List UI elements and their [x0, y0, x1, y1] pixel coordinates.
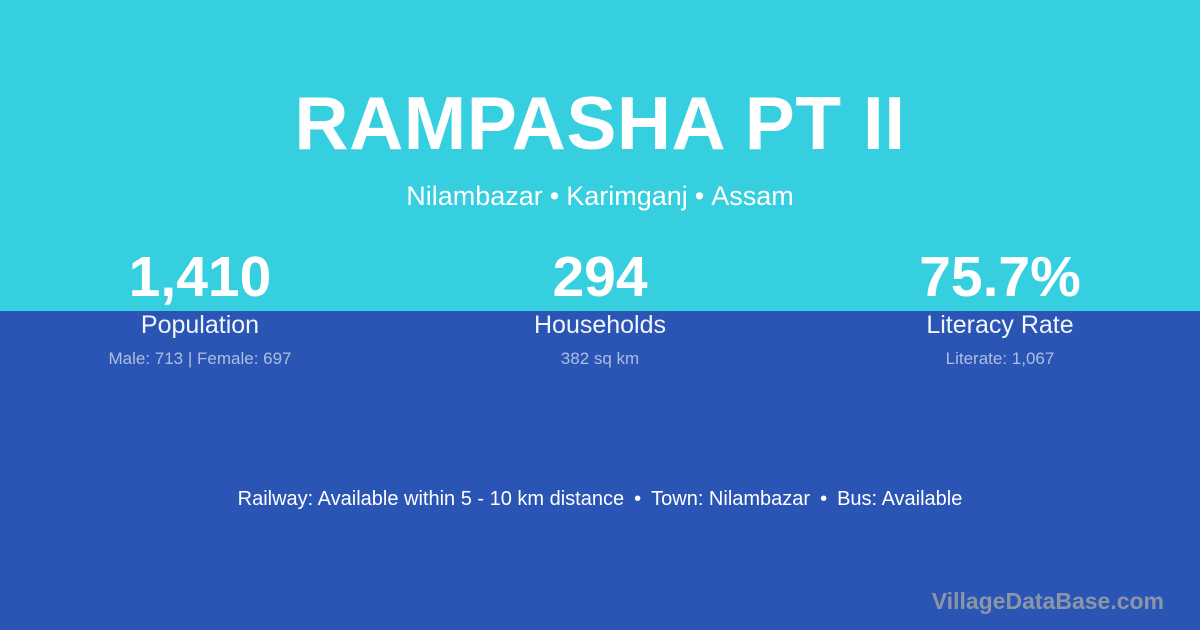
- location-breadcrumb: Nilambazar•Karimganj•Assam: [0, 182, 1200, 212]
- fact-bus: Bus: Available: [837, 488, 962, 510]
- fact-railway: Railway: Available within 5 - 10 km dist…: [238, 488, 624, 510]
- stat-value: 1,410: [129, 248, 272, 306]
- breadcrumb-separator-1: •: [543, 181, 566, 211]
- stat-value: 75.7%: [919, 248, 1081, 306]
- breadcrumb-state: Assam: [711, 181, 794, 211]
- page-title: RAMPASHA PT II: [0, 86, 1200, 161]
- village-info-card: RAMPASHA PT II Nilambazar•Karimganj•Assa…: [0, 0, 1200, 630]
- amenities-line: Railway: Available within 5 - 10 km dist…: [0, 487, 1200, 511]
- brand-watermark: VillageDataBase.com: [932, 589, 1164, 614]
- stat-label: Households: [534, 312, 666, 340]
- stat-population: 1,410 Population Male: 713 | Female: 697: [0, 248, 400, 368]
- card-content: RAMPASHA PT II Nilambazar•Karimganj•Assa…: [0, 0, 1200, 630]
- fact-town: Town: Nilambazar: [651, 488, 810, 510]
- stat-sublabel: 382 sq km: [561, 350, 639, 369]
- stat-label: Population: [141, 312, 259, 340]
- stats-row: 1,410 Population Male: 713 | Female: 697…: [0, 248, 1200, 368]
- stat-sublabel: Male: 713 | Female: 697: [108, 350, 291, 369]
- stat-label: Literacy Rate: [926, 312, 1073, 340]
- breadcrumb-separator-2: •: [688, 181, 711, 211]
- stat-value: 294: [552, 248, 647, 306]
- stat-literacy-rate: 75.7% Literacy Rate Literate: 1,067: [800, 248, 1200, 368]
- stat-households: 294 Households 382 sq km: [400, 248, 800, 368]
- stat-sublabel: Literate: 1,067: [946, 350, 1055, 369]
- fact-separator-2: •: [810, 488, 837, 510]
- breadcrumb-district: Karimganj: [566, 181, 688, 211]
- fact-separator-1: •: [624, 488, 651, 510]
- breadcrumb-block: Nilambazar: [406, 181, 543, 211]
